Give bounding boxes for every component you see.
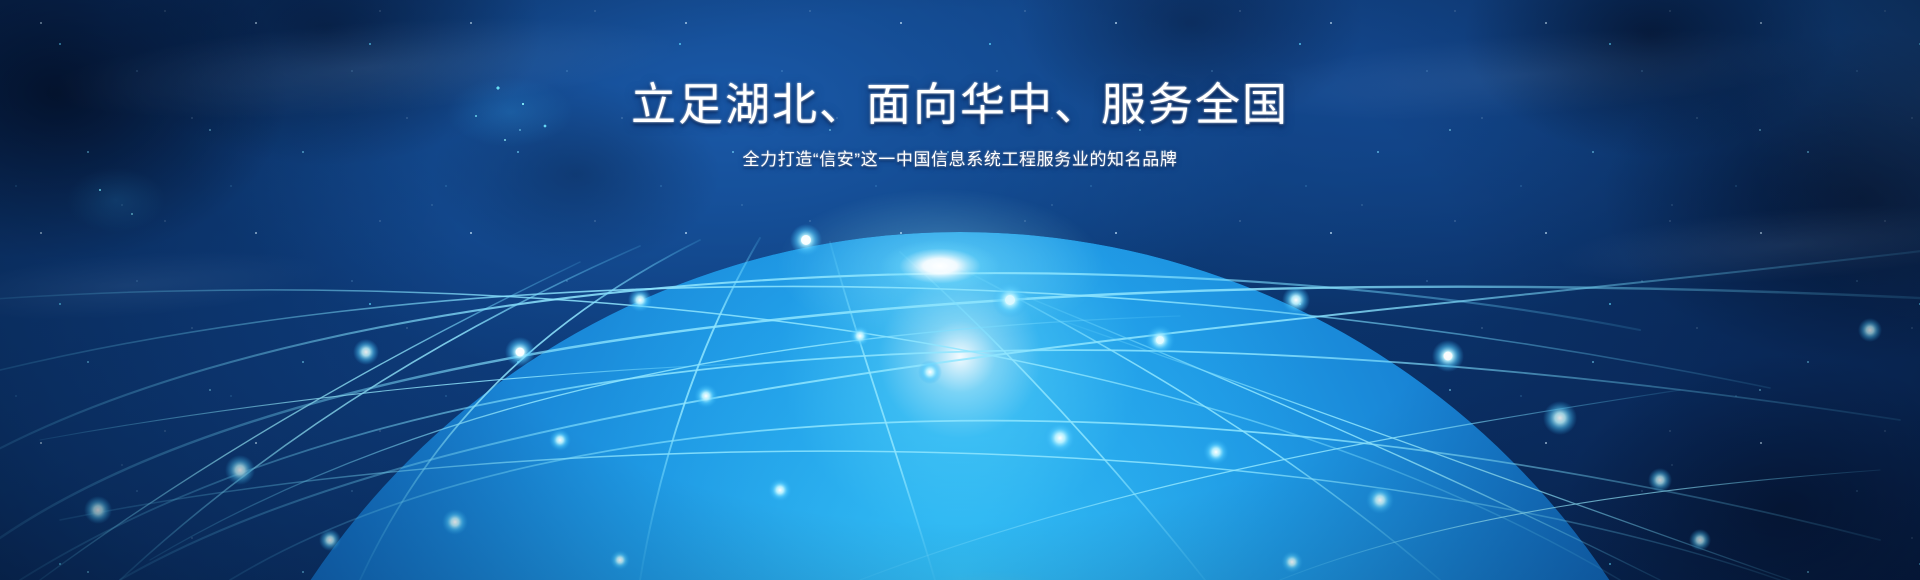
banner-headline: 立足湖北、面向华中、服务全国 bbox=[0, 78, 1920, 132]
banner-subheadline: 全力打造“信安”这一中国信息系统工程服务业的知名品牌 bbox=[0, 148, 1920, 172]
banner-text-block: 立足湖北、面向华中、服务全国 全力打造“信安”这一中国信息系统工程服务业的知名品… bbox=[0, 78, 1920, 172]
hero-banner: 立足湖北、面向华中、服务全国 全力打造“信安”这一中国信息系统工程服务业的知名品… bbox=[0, 0, 1920, 580]
